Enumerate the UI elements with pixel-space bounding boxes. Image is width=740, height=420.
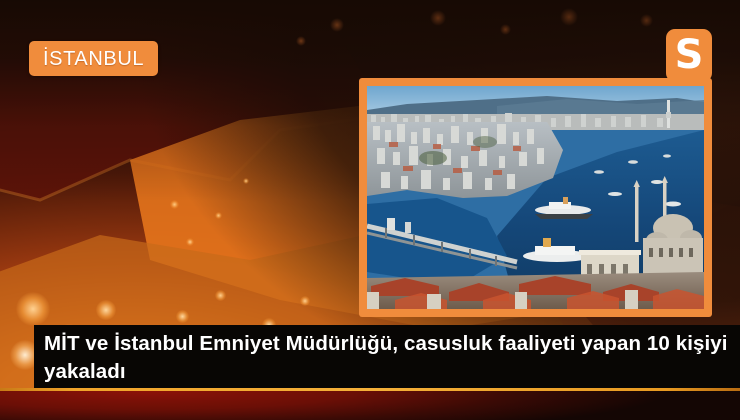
gold-divider bbox=[0, 388, 740, 391]
bottom-strip bbox=[0, 391, 740, 420]
headline: MİT ve İstanbul Emniyet Müdürlüğü, casus… bbox=[44, 330, 734, 386]
brand-logo-letter: S bbox=[675, 35, 704, 75]
news-card: İSTANBUL S bbox=[0, 0, 740, 420]
city-badge-label: İSTANBUL bbox=[43, 49, 144, 69]
photo-frame bbox=[359, 78, 712, 317]
city-badge: İSTANBUL bbox=[29, 41, 158, 76]
brand-s-logo[interactable]: S bbox=[666, 29, 712, 82]
istanbul-photo bbox=[367, 86, 704, 309]
caption-bar: MİT ve İstanbul Emniyet Müdürlüğü, casus… bbox=[34, 325, 740, 388]
